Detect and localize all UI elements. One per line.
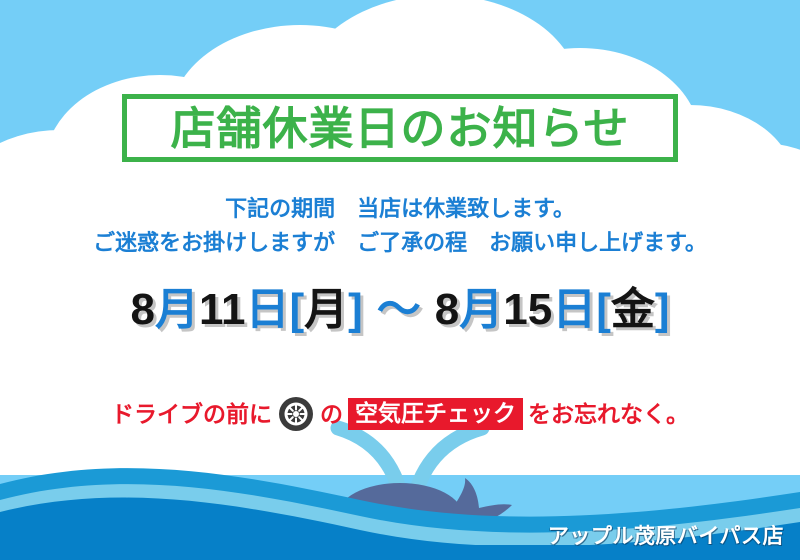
end-month-number: 8 [435,285,459,334]
start-weekday: 月 [304,285,348,334]
end-day-number: 15 [503,285,552,334]
poster-content: 店舗休業日のお知らせ 下記の期間 当店は休業致します。 ご迷惑をお掛けしますが … [0,0,800,560]
reminder-before-icon: ドライブの前に [111,403,272,426]
closure-period: 8月11日[月]〜8月15日[金] [0,288,800,332]
end-bracket-open: [ [596,285,611,334]
start-month-unit: 月 [155,285,199,334]
lead-line-1: 下記の期間 当店は休業致します。 [0,192,800,226]
end-bracket-close: ] [655,285,670,334]
shop-name-label: アップル茂原バイパス店 [548,520,784,550]
start-bracket-open: [ [289,285,304,334]
closure-notice-poster: 店舗休業日のお知らせ 下記の期間 当店は休業致します。 ご迷惑をお掛けしますが … [0,0,800,560]
tire-icon [278,396,314,432]
reminder-highlight: 空気圧チェック [348,398,523,430]
start-day-number: 11 [199,285,246,334]
start-day-unit: 日 [245,285,289,334]
period-separator: 〜 [363,285,435,334]
tire-pressure-reminder: ドライブの前に [0,396,800,432]
end-month-unit: 月 [459,285,503,334]
reminder-tail: をお忘れなく。 [528,403,689,426]
start-month-number: 8 [130,285,154,334]
notice-title-box: 店舗休業日のお知らせ [122,94,678,162]
start-bracket-close: ] [348,285,363,334]
reminder-after-icon: の [320,403,343,426]
page-title: 店舗休業日のお知らせ [170,106,629,151]
lead-line-2: ご迷惑をお掛けしますが ご了承の程 お願い申し上げます。 [0,226,800,260]
notice-lead-text: 下記の期間 当店は休業致します。 ご迷惑をお掛けしますが ご了承の程 お願い申し… [0,192,800,260]
end-day-unit: 日 [552,285,596,334]
end-weekday: 金 [611,285,655,334]
